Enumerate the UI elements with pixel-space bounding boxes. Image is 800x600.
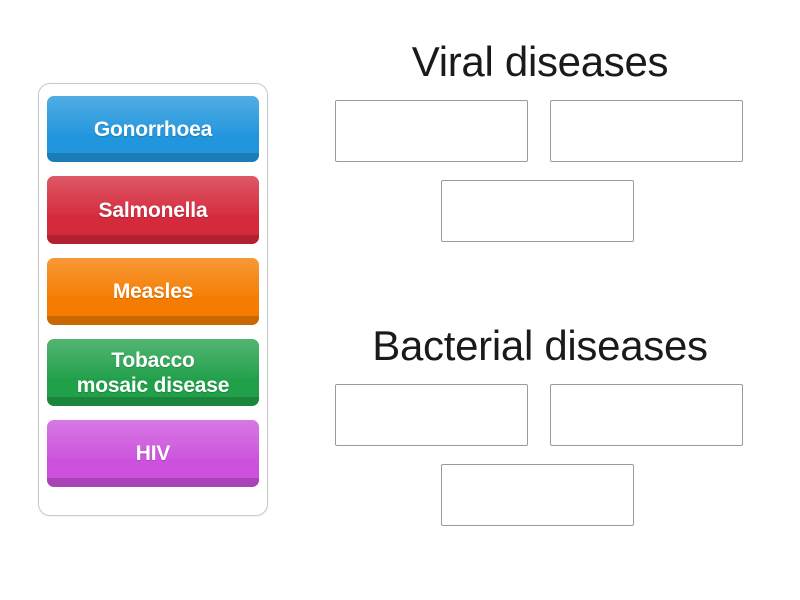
tile-tobacco-mosaic-disease[interactable]: Tobaccomosaic disease [47, 339, 259, 406]
tile-label: Tobaccomosaic disease [75, 348, 231, 398]
category-bacterial: Bacterial diseases [300, 320, 780, 539]
tile-label: Measles [111, 279, 195, 304]
dropzone-viral-1[interactable] [335, 100, 528, 162]
category-title: Bacterial diseases [300, 320, 780, 372]
dropzone-bacterial-3[interactable] [441, 464, 634, 526]
dropzone-viral-2[interactable] [550, 100, 743, 162]
tile-gonorrhoea[interactable]: Gonorrhoea [47, 96, 259, 162]
dropzone-bacterial-1[interactable] [335, 384, 528, 446]
tile-tray: Gonorrhoea Salmonella Measles Tobaccomos… [38, 83, 268, 516]
tile-hiv[interactable]: HIV [47, 420, 259, 487]
tile-label: Salmonella [97, 198, 210, 223]
dropzone-group-bacterial [300, 384, 780, 539]
category-viral: Viral diseases [300, 36, 780, 255]
dropzone-group-viral [300, 100, 780, 255]
category-title: Viral diseases [300, 36, 780, 88]
dropzone-bacterial-2[interactable] [550, 384, 743, 446]
tile-salmonella[interactable]: Salmonella [47, 176, 259, 244]
tile-label: HIV [134, 441, 172, 466]
tile-measles[interactable]: Measles [47, 258, 259, 325]
tile-label: Gonorrhoea [92, 117, 214, 142]
dropzone-viral-3[interactable] [441, 180, 634, 242]
